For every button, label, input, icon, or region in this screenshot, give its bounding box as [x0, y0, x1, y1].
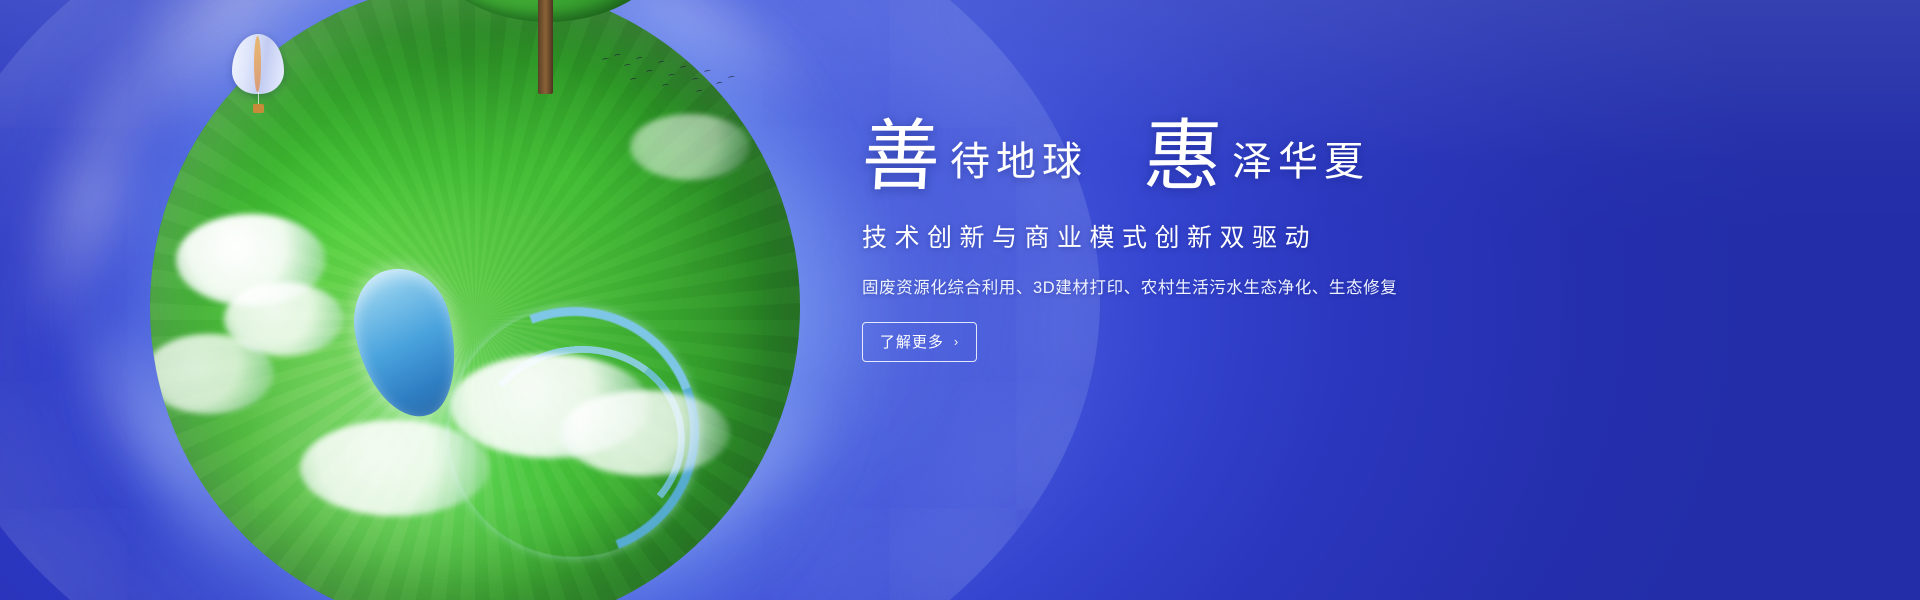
headline-char-1: 善	[860, 122, 942, 194]
tree-trunk	[538, 0, 553, 94]
balloon-basket	[253, 104, 264, 113]
hero-banner: 善 待地球 惠 泽华夏 技术创新与商业模式创新双驱动 固废资源化综合利用、3D建…	[0, 0, 1920, 600]
learn-more-label: 了解更多	[880, 331, 944, 352]
learn-more-button[interactable]: 了解更多 ›	[862, 322, 977, 362]
cloud-puff	[560, 390, 730, 476]
chevron-right-icon: ›	[954, 334, 959, 349]
balloon-stripe	[254, 36, 261, 92]
headline-text-2: 泽华夏	[1222, 142, 1370, 194]
hero-subtitle: 技术创新与商业模式创新双驱动	[862, 218, 1602, 254]
headline-text-1: 待地球	[940, 142, 1088, 194]
page-title: 善 待地球 惠 泽华夏	[862, 122, 1602, 194]
hero-content: 善 待地球 惠 泽华夏 技术创新与商业模式创新双驱动 固废资源化综合利用、3D建…	[862, 122, 1602, 362]
cloud-puff	[150, 334, 274, 414]
hot-air-balloon-icon	[232, 34, 288, 120]
hero-description: 固废资源化综合利用、3D建材打印、农村生活污水生态净化、生态修复	[862, 274, 1602, 298]
cloud-puff	[300, 420, 490, 516]
headline-char-2: 惠	[1142, 122, 1224, 194]
birds-icon	[600, 52, 740, 98]
cloud-puff	[630, 114, 750, 180]
